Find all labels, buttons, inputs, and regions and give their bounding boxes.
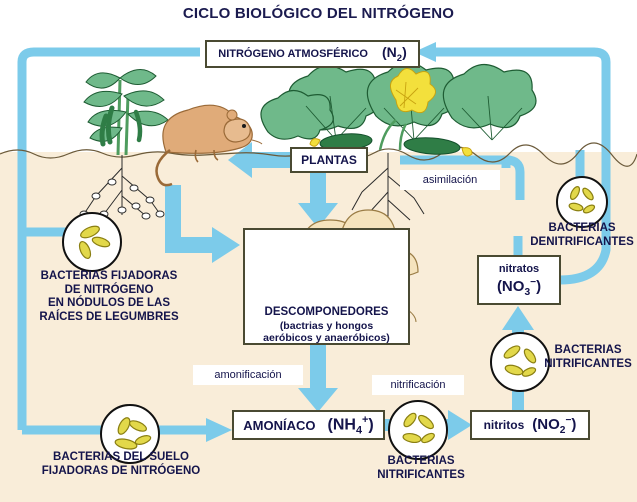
box-plants[interactable]: PLANTAS [290, 147, 368, 173]
label-assimilation: asimilación [400, 170, 500, 190]
box-nitrates[interactable]: nitratos (NO3−) [477, 255, 561, 305]
nitrites-formula: (NO2−) [532, 415, 576, 436]
bacteria-circle-nitrifying-right [490, 332, 550, 392]
atmospheric-nitrogen-label: NITRÓGENO ATMOSFÉRICO [218, 48, 368, 60]
caption-nitrifying-bacteria-bottom: BACTERIAS NITRIFICANTES [360, 455, 482, 482]
box-atmospheric-nitrogen[interactable]: NITRÓGENO ATMOSFÉRICO (N2) [205, 40, 420, 68]
nitrites-label: nitritos [484, 418, 525, 432]
squash-plant-icon [261, 62, 536, 156]
nitrates-formula: (NO3−) [497, 277, 541, 298]
caption-soil-fixing-bacteria: BACTERIAS DEL SUELO FIJADORAS DE NITRÓGE… [16, 451, 226, 478]
nitrogen-cycle-diagram: CICLO BIOLÓGICO DEL NITRÓGENO [0, 0, 637, 502]
plants-label: PLANTAS [301, 153, 357, 167]
rodent-icon [157, 105, 263, 185]
caption-root-nodule-bacteria: BACTERIAS FIJADORAS DE NITRÓGENO EN NÓDU… [14, 270, 204, 324]
bacteria-icon [390, 402, 446, 458]
decomposers-line1: DESCOMPONEDORES [245, 306, 408, 320]
label-ammonification: amonificación [193, 365, 303, 385]
box-nitrites[interactable]: nitritos (NO2−) [470, 410, 590, 440]
atmospheric-nitrogen-formula: (N2) [382, 44, 407, 64]
caption-denitrifying-bacteria: BACTERIAS DENITRIFICANTES [528, 222, 636, 249]
bacteria-circle-denitrifying [556, 176, 608, 228]
bacteria-icon [64, 214, 120, 270]
label-nitrification: nitrificación [372, 375, 464, 395]
bacteria-circle-nitrifying-bottom [388, 400, 448, 460]
caption-nitrifying-bacteria-right: BACTERIAS NITRIFICANTES [542, 344, 634, 371]
roots-icon [80, 155, 164, 219]
ammonia-formula: (NH4+) [328, 414, 374, 437]
box-ammonia[interactable]: AMONÍACO (NH4+) [232, 410, 385, 440]
ammonia-label: AMONÍACO [243, 418, 315, 433]
legume-plant-icon [84, 69, 168, 155]
bacteria-icon [492, 334, 548, 390]
bacteria-icon [558, 178, 606, 226]
decomposers-caption: DESCOMPONEDORES (bactrias y hongos aerób… [245, 306, 408, 345]
bacteria-circle-root-nodule [62, 212, 122, 272]
decomposers-line2: (bactrias y hongos [245, 320, 408, 333]
decomposers-line3: aeróbicos y anaeróbicos) [245, 332, 408, 345]
nitrates-label: nitratos [499, 263, 539, 275]
